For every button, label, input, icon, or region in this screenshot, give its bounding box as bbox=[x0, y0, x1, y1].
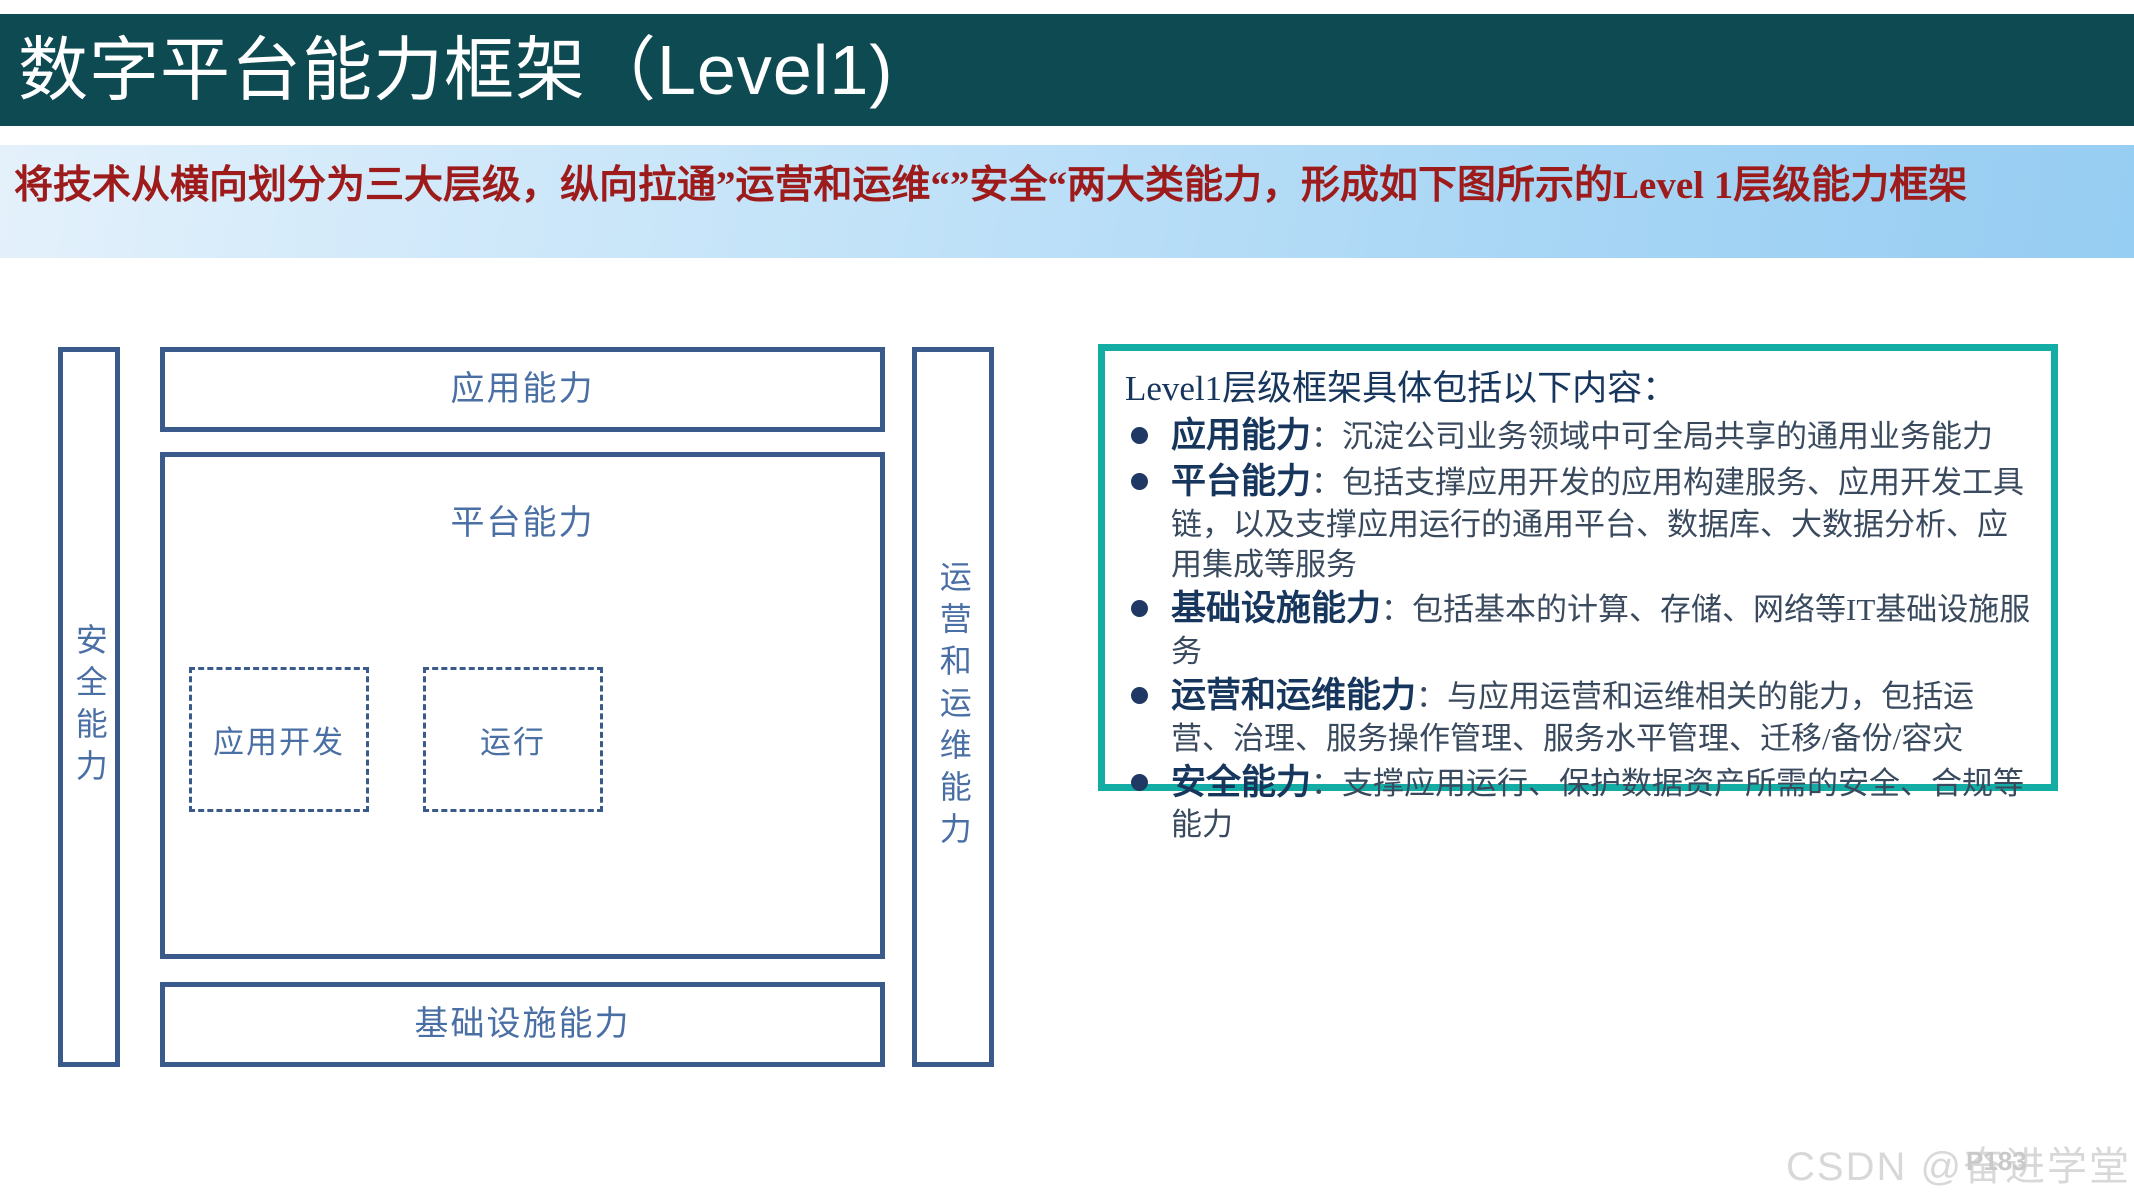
list-item: 运营和运维能力：与应用运营和运维相关的能力，包括运营、治理、服务操作管理、服务水… bbox=[1125, 673, 2035, 759]
diagram-row-infrastructure: 基础设施能力 bbox=[160, 982, 885, 1067]
details-panel-heading: Level1层级框架具体包括以下内容： bbox=[1125, 367, 2035, 411]
diagram-subbox-app-development-label: 应用开发 bbox=[213, 717, 345, 762]
bullet-term: 应用能力 bbox=[1171, 416, 1311, 455]
list-item: 安全能力：支撑应用运行、保护数据资产所需的安全、合规等能力 bbox=[1125, 760, 2035, 846]
capability-framework-diagram: 安全能力 应用能力 平台能力 应用开发 运行 基础设施能力 运营和运维能力 bbox=[0, 330, 1060, 1090]
diagram-column-security: 安全能力 bbox=[58, 347, 120, 1067]
csdn-watermark: CSDN @奋进学堂 bbox=[1786, 1134, 2131, 1192]
bullet-term: 基础设施能力 bbox=[1171, 589, 1381, 628]
diagram-row-application: 应用能力 bbox=[160, 347, 885, 432]
bullet-separator: ： bbox=[1311, 465, 1342, 500]
capability-bullet-list: 应用能力：沉淀公司业务领域中可全局共享的通用业务能力 平台能力：包括支撑应用开发… bbox=[1125, 413, 2035, 846]
bullet-description: 沉淀公司业务领域中可全局共享的通用业务能力 bbox=[1342, 419, 1993, 454]
bullet-dot-icon bbox=[1131, 600, 1148, 617]
slide-root: 数字平台能力框架（Level1) 将技术从横向划分为三大层级，纵向拉通”运营和运… bbox=[0, 0, 2134, 1200]
bullet-term: 平台能力 bbox=[1171, 462, 1311, 501]
bullet-dot-icon bbox=[1131, 774, 1148, 791]
bullet-dot-icon bbox=[1131, 687, 1148, 704]
details-panel: Level1层级框架具体包括以下内容： 应用能力：沉淀公司业务领域中可全局共享的… bbox=[1098, 344, 2058, 791]
page-number: P183 bbox=[1966, 1146, 2027, 1177]
bullet-separator: ： bbox=[1311, 766, 1342, 801]
subtitle-text: 将技术从横向划分为三大层级，纵向拉通”运营和运维“”安全“两大类能力，形成如下图… bbox=[14, 159, 2108, 213]
bullet-term: 运营和运维能力 bbox=[1171, 676, 1416, 715]
bullet-term: 安全能力 bbox=[1171, 763, 1311, 802]
subtitle-band: 将技术从横向划分为三大层级，纵向拉通”运营和运维“”安全“两大类能力，形成如下图… bbox=[0, 145, 2134, 258]
diagram-subbox-runtime-label: 运行 bbox=[480, 717, 546, 762]
diagram-subbox-app-development: 应用开发 bbox=[189, 667, 369, 812]
diagram-row-platform-label: 平台能力 bbox=[165, 495, 880, 544]
bullet-separator: ： bbox=[1381, 592, 1412, 627]
page-title: 数字平台能力框架（Level1) bbox=[0, 35, 894, 105]
bullet-dot-icon bbox=[1131, 473, 1148, 490]
list-item: 基础设施能力：包括基本的计算、存储、网络等IT基础设施服务 bbox=[1125, 586, 2035, 672]
bullet-separator: ： bbox=[1311, 419, 1342, 454]
diagram-row-infrastructure-label: 基础设施能力 bbox=[415, 1006, 631, 1043]
diagram-row-platform: 平台能力 应用开发 运行 bbox=[160, 452, 885, 959]
diagram-row-application-label: 应用能力 bbox=[451, 371, 595, 408]
bullet-separator: ： bbox=[1416, 679, 1447, 714]
diagram-subbox-runtime: 运行 bbox=[423, 667, 603, 812]
list-item: 平台能力：包括支撑应用开发的应用构建服务、应用开发工具链，以及支撑应用运行的通用… bbox=[1125, 459, 2035, 585]
list-item: 应用能力：沉淀公司业务领域中可全局共享的通用业务能力 bbox=[1125, 413, 2035, 459]
diagram-column-security-label: 安全能力 bbox=[72, 623, 106, 791]
bullet-dot-icon bbox=[1131, 427, 1148, 444]
diagram-column-operations-label: 运营和运维能力 bbox=[936, 560, 970, 854]
title-bar: 数字平台能力框架（Level1) bbox=[0, 14, 2134, 126]
diagram-column-operations: 运营和运维能力 bbox=[912, 347, 994, 1067]
